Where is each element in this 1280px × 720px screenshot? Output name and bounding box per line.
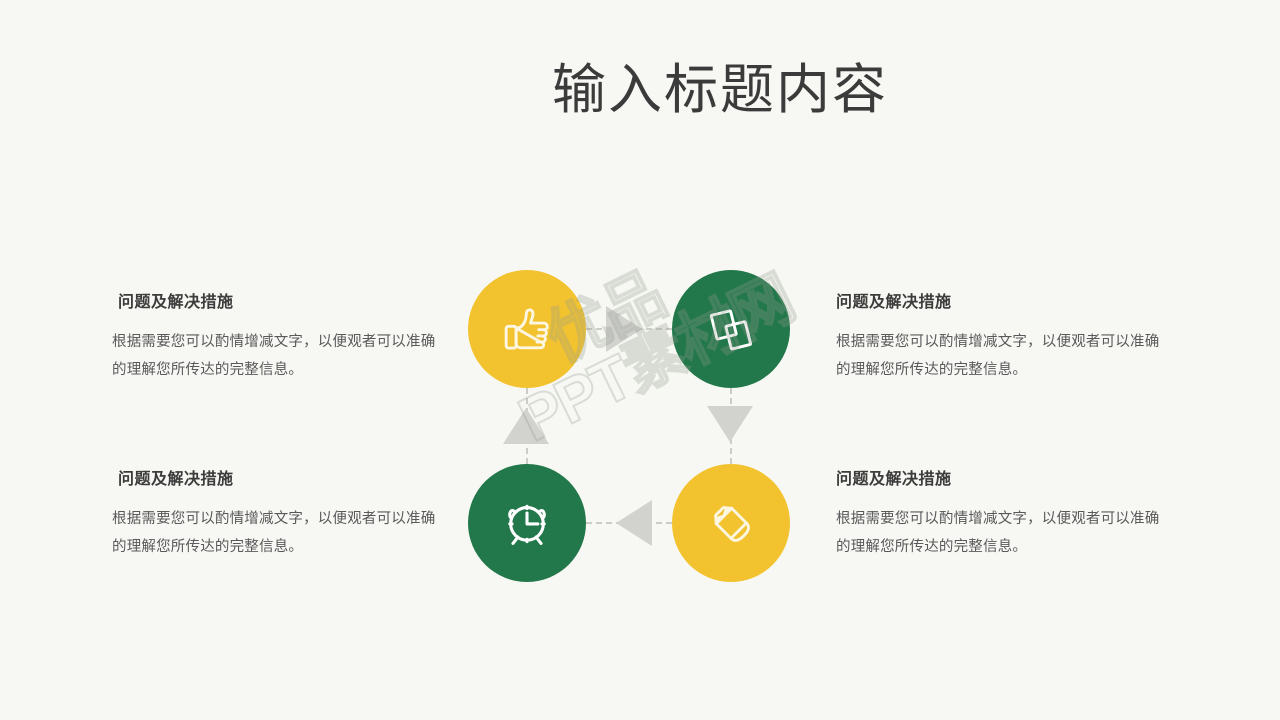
node-top-left[interactable]: [468, 270, 586, 388]
node-top-right[interactable]: [672, 270, 790, 388]
text-block-top-right: 问题及解决措施 根据需要您可以酌情增减文字，以便观者可以准确的理解您所传达的完整…: [836, 288, 1166, 385]
page-title: 输入标题内容: [0, 58, 1280, 123]
arrow-right-icon: [606, 306, 642, 352]
node-bottom-right[interactable]: [672, 464, 790, 582]
cycle-diagram: [468, 270, 800, 582]
arrow-left-icon: [616, 500, 652, 546]
pencil-icon: [702, 494, 760, 552]
block-heading: 问题及解决措施: [836, 465, 1166, 489]
slide-canvas: 输入标题内容 问题及解决措施 根据需要您可以酌情增减文字，以便观者可以准确的理解…: [0, 0, 1280, 720]
arrow-down-icon: [707, 406, 753, 442]
text-block-bottom-right: 问题及解决措施 根据需要您可以酌情增减文字，以便观者可以准确的理解您所传达的完整…: [836, 465, 1166, 562]
block-body: 根据需要您可以酌情增减文字，以便观者可以准确的理解您所传达的完整信息。: [112, 505, 442, 562]
alarm-clock-icon: [498, 494, 556, 552]
block-body: 根据需要您可以酌情增减文字，以便观者可以准确的理解您所传达的完整信息。: [112, 328, 442, 385]
thumbs-up-icon: [498, 300, 556, 358]
arrow-up-icon: [503, 408, 549, 444]
node-bottom-left[interactable]: [468, 464, 586, 582]
text-block-top-left: 问题及解决措施 根据需要您可以酌情增减文字，以便观者可以准确的理解您所传达的完整…: [112, 288, 442, 385]
block-body: 根据需要您可以酌情增减文字，以便观者可以准确的理解您所传达的完整信息。: [836, 505, 1166, 562]
documents-icon: [702, 300, 760, 358]
block-heading: 问题及解决措施: [836, 288, 1166, 312]
block-heading: 问题及解决措施: [112, 465, 442, 489]
text-block-bottom-left: 问题及解决措施 根据需要您可以酌情增减文字，以便观者可以准确的理解您所传达的完整…: [112, 465, 442, 562]
block-body: 根据需要您可以酌情增减文字，以便观者可以准确的理解您所传达的完整信息。: [836, 328, 1166, 385]
block-heading: 问题及解决措施: [112, 288, 442, 312]
